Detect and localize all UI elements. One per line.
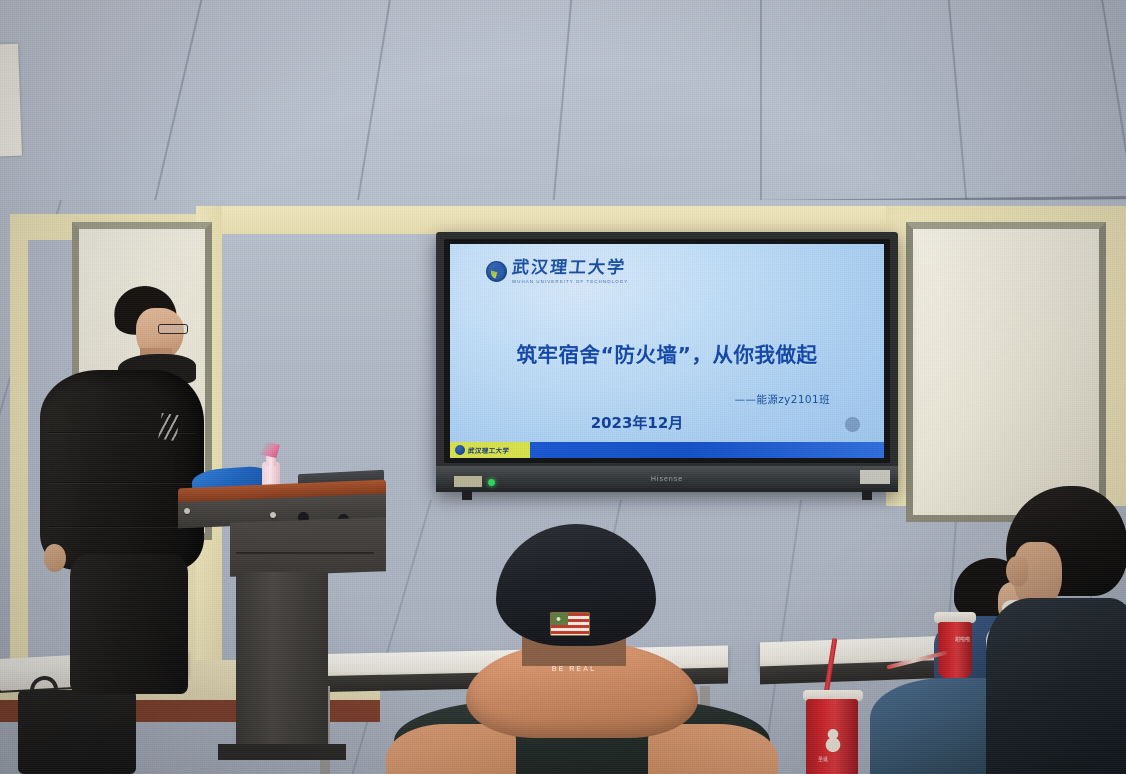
student-jacket [986, 598, 1126, 774]
lectern-base [218, 744, 346, 760]
slide-footer-badge: 武汉理工大学 [450, 442, 530, 458]
glasses-icon [158, 324, 188, 334]
lectern-drawer[interactable] [236, 552, 374, 554]
red-drink-cup-back: 甜啦啦 [938, 612, 976, 678]
footer-badge-label: 武汉理工大学 [467, 445, 509, 455]
display-foot-right [862, 490, 872, 500]
ceiling [0, 0, 1126, 226]
cup-front-label: 圣诞 [818, 758, 828, 764]
slide-title: 筑牢宿舍“防火墙”，从你我做起 [450, 338, 884, 368]
flag-patch-icon [550, 612, 590, 636]
slide-author: ——能源zy2101班 [735, 392, 830, 407]
display-sticker-right [860, 470, 890, 484]
presentation-slide: 武汉理工大学 WUHAN UNIVERSITY OF TECHNOLOGY 筑牢… [450, 244, 884, 458]
classroom-photo: 武汉理工大学 WUHAN UNIVERSITY OF TECHNOLOGY 筑牢… [0, 0, 1126, 774]
university-name-cn: 武汉理工大学 [511, 260, 629, 277]
display-brand-label: Hisense [651, 476, 683, 483]
wall-band-top [196, 206, 936, 234]
slide-watermark-icon [845, 417, 860, 432]
whiteboard-right [906, 222, 1106, 522]
lectern-knob[interactable] [184, 508, 190, 514]
spray-trigger-icon [260, 442, 280, 458]
red-holiday-cup-front: 圣诞 [806, 672, 862, 774]
lectern-body [230, 517, 386, 576]
jacket-logo-stripes [158, 413, 179, 441]
student-ear [1006, 556, 1028, 586]
presenter-figure [18, 286, 198, 686]
student-foreground: BE REAL [372, 524, 772, 774]
presenter-hand [44, 544, 66, 572]
university-name-en: WUHAN UNIVERSITY OF TECHNOLOGY [512, 280, 628, 284]
lectern [178, 476, 386, 774]
cup-back-label: 甜啦啦 [955, 638, 970, 644]
display-chin: Hisense [436, 466, 898, 492]
lectern-knob[interactable] [270, 512, 276, 518]
spray-bottle [260, 440, 282, 490]
university-logo: 武汉理工大学 WUHAN UNIVERSITY OF TECHNOLOGY [486, 260, 628, 284]
snowman-icon [824, 728, 842, 752]
student-front-right [1000, 486, 1126, 774]
power-led-icon [488, 479, 495, 486]
display-foot-left [462, 490, 472, 500]
footer-emblem-icon [455, 445, 465, 455]
interactive-display[interactable]: 武汉理工大学 WUHAN UNIVERSITY OF TECHNOLOGY 筑牢… [436, 232, 898, 492]
wall-poster [0, 44, 22, 157]
lectern-column [236, 572, 328, 752]
presenter-trousers [70, 554, 188, 694]
hoodie-text: BE REAL [524, 666, 624, 673]
classroom-chair-left [18, 690, 136, 774]
slide-date: 2023年12月 [450, 412, 884, 433]
university-emblem-icon [486, 261, 507, 282]
display-sticker-left [454, 476, 482, 487]
